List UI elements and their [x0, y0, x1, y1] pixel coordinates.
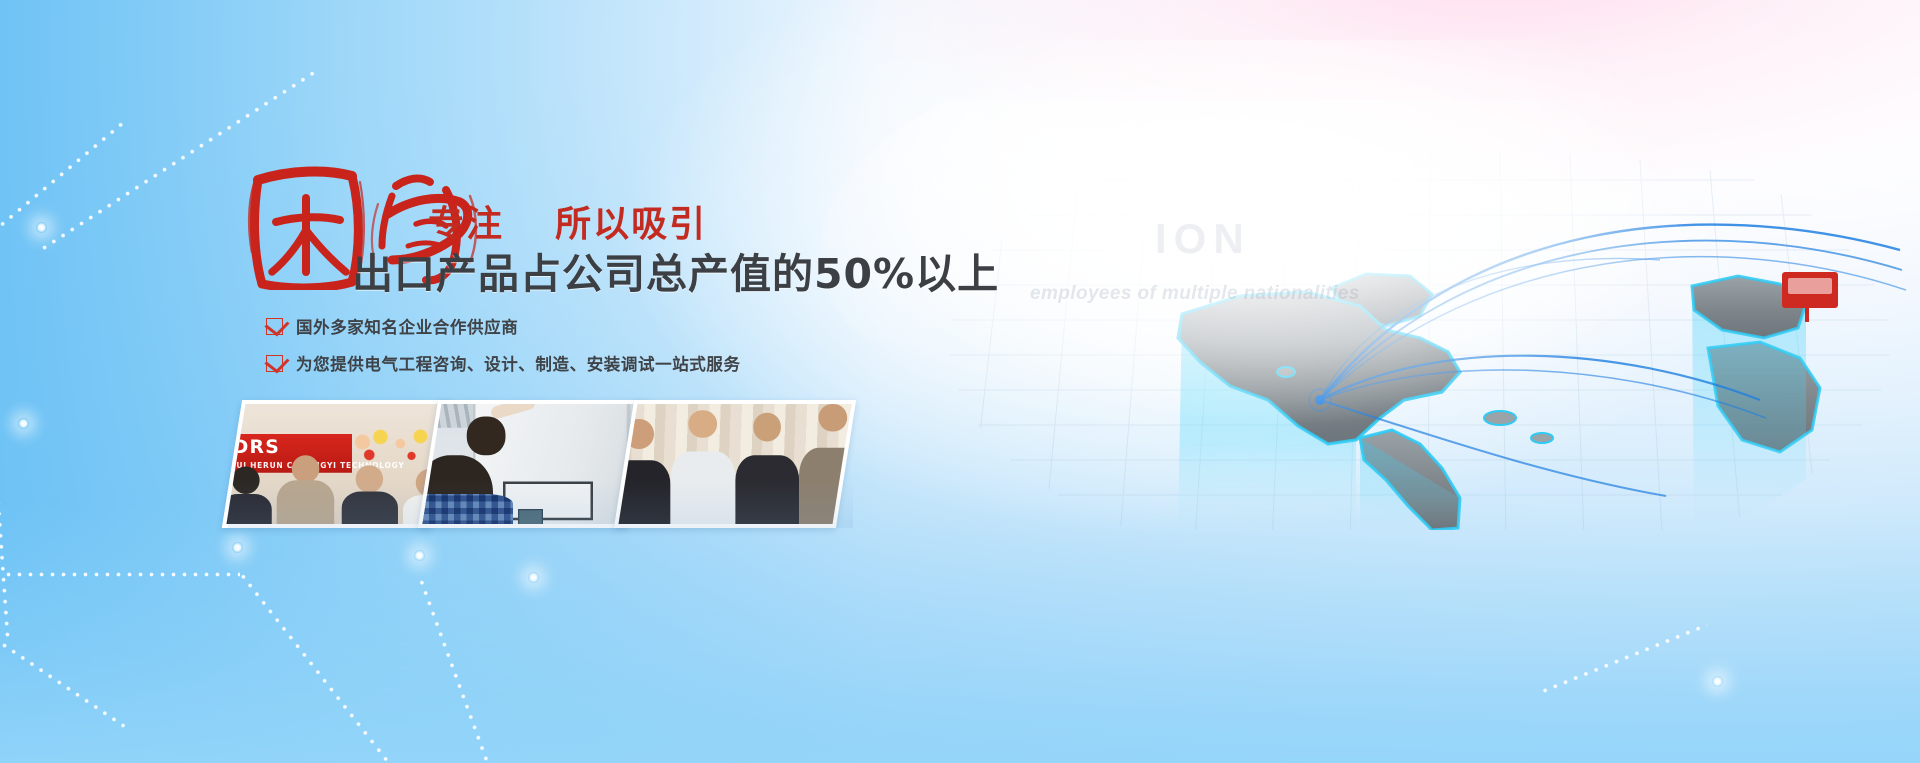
- person: [671, 410, 735, 528]
- person: [222, 467, 271, 528]
- promo-banner: ION employees of multiple nationalities: [0, 0, 1920, 763]
- person-body: [735, 456, 799, 528]
- cabinet-panel: [503, 482, 594, 520]
- photo-strip: HDRS ANHUI HERUN CHUANGYI TECHNOLOGY: [228, 400, 853, 528]
- bullet-item: 为您提供电气工程咨询、设计、制造、安装调试一站式服务: [266, 351, 741, 375]
- person-head: [356, 465, 384, 493]
- people-row: [222, 455, 452, 528]
- person-head: [689, 410, 717, 438]
- person: [799, 404, 856, 528]
- engineers-switchgear-photo: [418, 400, 648, 528]
- engineer-plaid-shirt: [418, 494, 513, 528]
- person-body: [342, 492, 398, 528]
- headline: 出口产品占公司总产值的50%以上: [352, 240, 999, 300]
- person-head: [232, 467, 259, 494]
- photo-content: HDRS ANHUI HERUN CHUANGYI TECHNOLOGY: [222, 400, 452, 528]
- bullet-label: 国外多家知名企业合作供应商: [296, 314, 518, 338]
- bullet-label: 为您提供电气工程咨询、设计、制造、安装调试一站式服务: [296, 351, 741, 375]
- tagline-red-part2: 所以吸引: [555, 204, 707, 245]
- award-ceremony-photo: HDRS ANHUI HERUN CHUANGYI TECHNOLOGY: [222, 400, 452, 528]
- person: [735, 413, 799, 528]
- checkbox-checked-icon: [266, 355, 283, 372]
- copy-block: 专注 所以吸引 出口产品占公司总产值的50%以上 国外多家知名企业合作供应商 为…: [0, 0, 1920, 763]
- bullet-list: 国外多家知名企业合作供应商 为您提供电气工程咨询、设计、制造、安装调试一站式服务: [266, 314, 741, 388]
- person-body: [222, 494, 271, 528]
- person-head: [291, 455, 319, 483]
- person-head: [753, 413, 781, 441]
- checkbox-checked-icon: [266, 318, 283, 335]
- team-group-photo: [614, 400, 856, 528]
- photo-content: [418, 400, 648, 528]
- technician-head: [467, 416, 505, 455]
- person-head: [819, 404, 847, 432]
- tagline-red-part1: 专注: [428, 204, 504, 245]
- photo-content: [614, 400, 856, 528]
- person-body: [614, 460, 671, 528]
- person: [276, 455, 334, 528]
- cabinet-device: [518, 509, 543, 528]
- person-body: [799, 447, 856, 528]
- person-body: [276, 480, 334, 528]
- person: [342, 465, 398, 528]
- bullet-item: 国外多家知名企业合作供应商: [266, 314, 741, 338]
- person-body: [671, 451, 735, 528]
